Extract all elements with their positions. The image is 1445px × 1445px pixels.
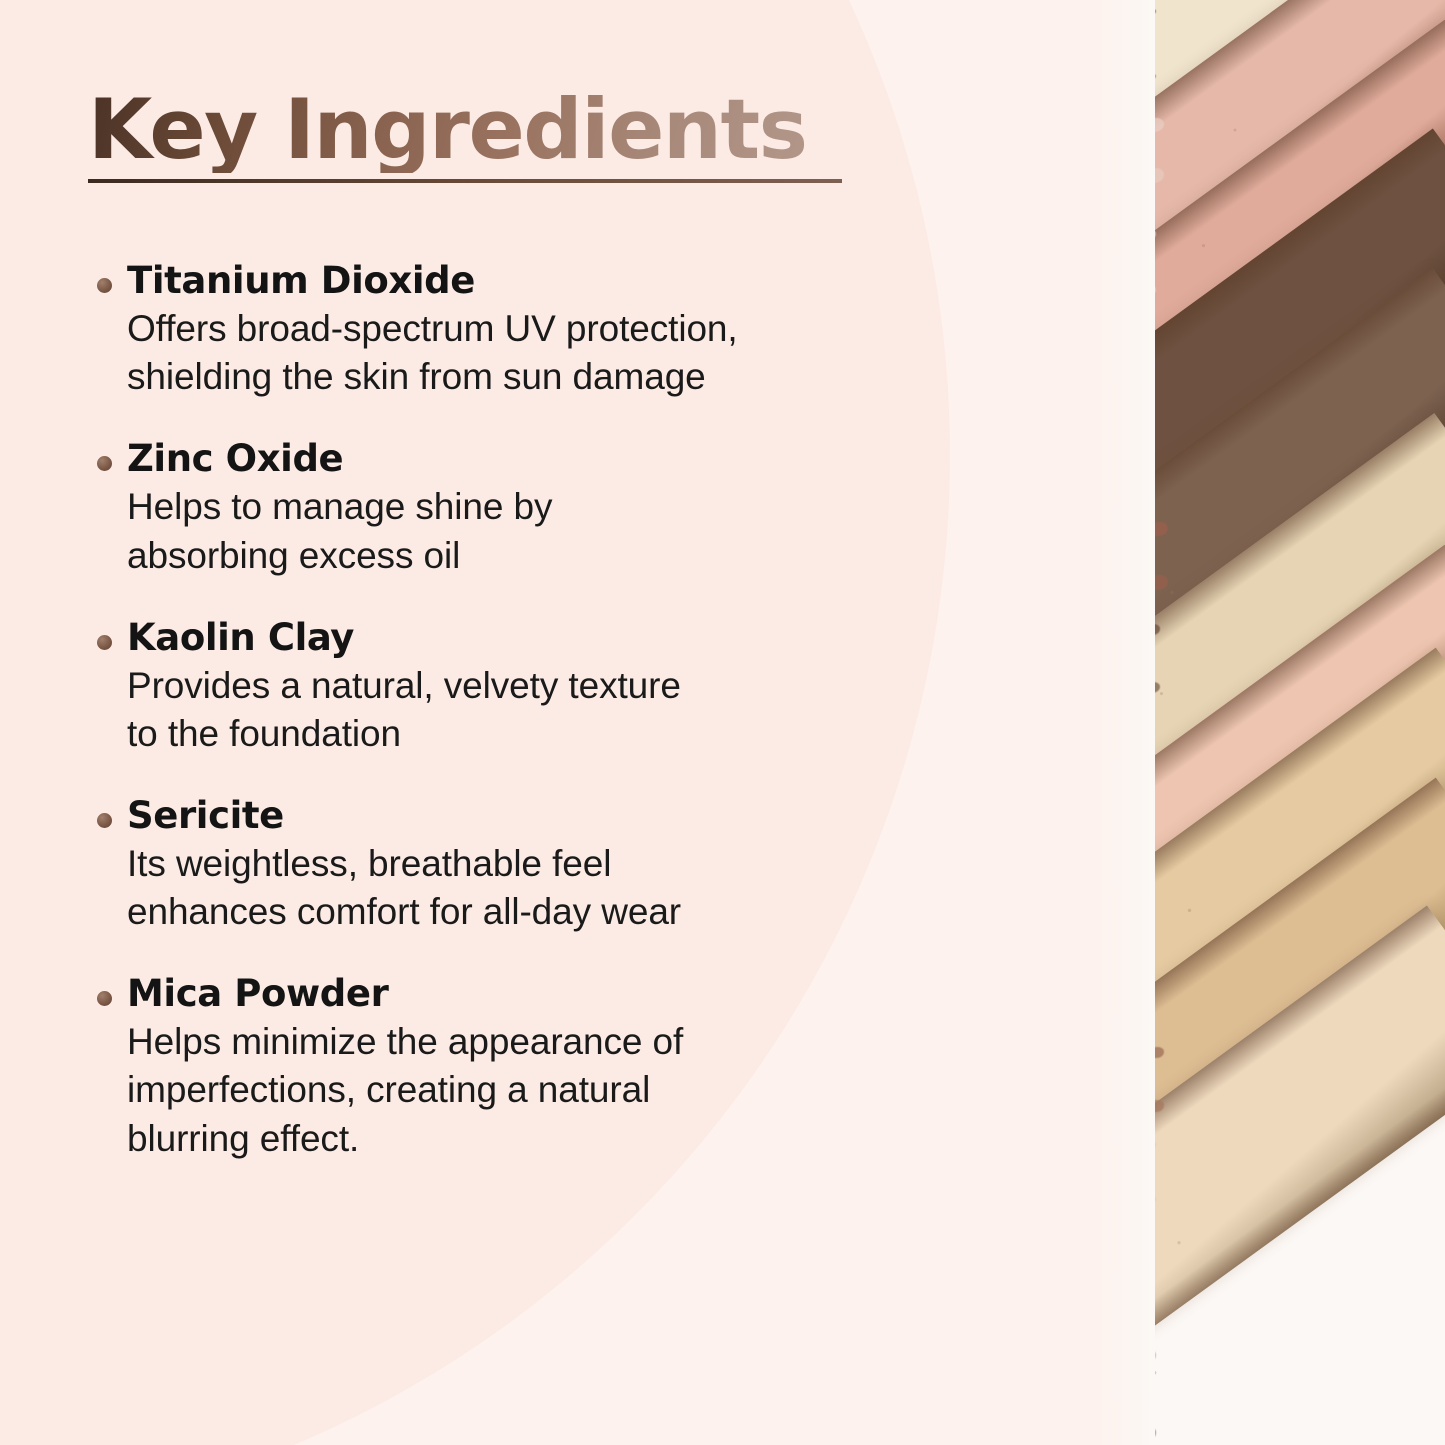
ingredient-description: Provides a natural, velvety texture to t…	[88, 662, 968, 758]
powder-left-fade	[1095, 0, 1155, 1445]
ingredient-name: Sericite	[88, 793, 968, 838]
ingredient-item: Kaolin ClayProvides a natural, velvety t…	[88, 615, 968, 758]
ingredient-list: Titanium DioxideOffers broad-spectrum UV…	[88, 258, 968, 1163]
ingredient-name: Kaolin Clay	[88, 615, 968, 660]
ingredient-description: Helps to manage shine by absorbing exces…	[88, 483, 968, 579]
ingredient-description: Helps minimize the appearance of imperfe…	[88, 1018, 968, 1162]
page-title-block: Key Ingredients	[88, 88, 842, 183]
ingredient-name: Mica Powder	[88, 971, 968, 1016]
ingredient-description: Its weightless, breathable feel enhances…	[88, 840, 968, 936]
product-ingredients-infographic: Key Ingredients Titanium DioxideOffers b…	[0, 0, 1445, 1445]
page-title-underline	[88, 179, 842, 183]
ingredient-item: Titanium DioxideOffers broad-spectrum UV…	[88, 258, 968, 401]
powder-swatch-image	[1095, 0, 1445, 1445]
bullet-icon	[97, 635, 112, 650]
bullet-icon	[97, 278, 112, 293]
content-column: Key Ingredients Titanium DioxideOffers b…	[0, 0, 1060, 1445]
ingredient-description: Offers broad-spectrum UV protection, shi…	[88, 305, 968, 401]
ingredient-name: Titanium Dioxide	[88, 258, 968, 303]
page-title: Key Ingredients	[88, 88, 842, 173]
bullet-icon	[97, 813, 112, 828]
ingredient-item: Zinc OxideHelps to manage shine by absor…	[88, 436, 968, 579]
ingredient-name: Zinc Oxide	[88, 436, 968, 481]
ingredient-item: SericiteIts weightless, breathable feel …	[88, 793, 968, 936]
ingredient-item: Mica PowderHelps minimize the appearance…	[88, 971, 968, 1162]
